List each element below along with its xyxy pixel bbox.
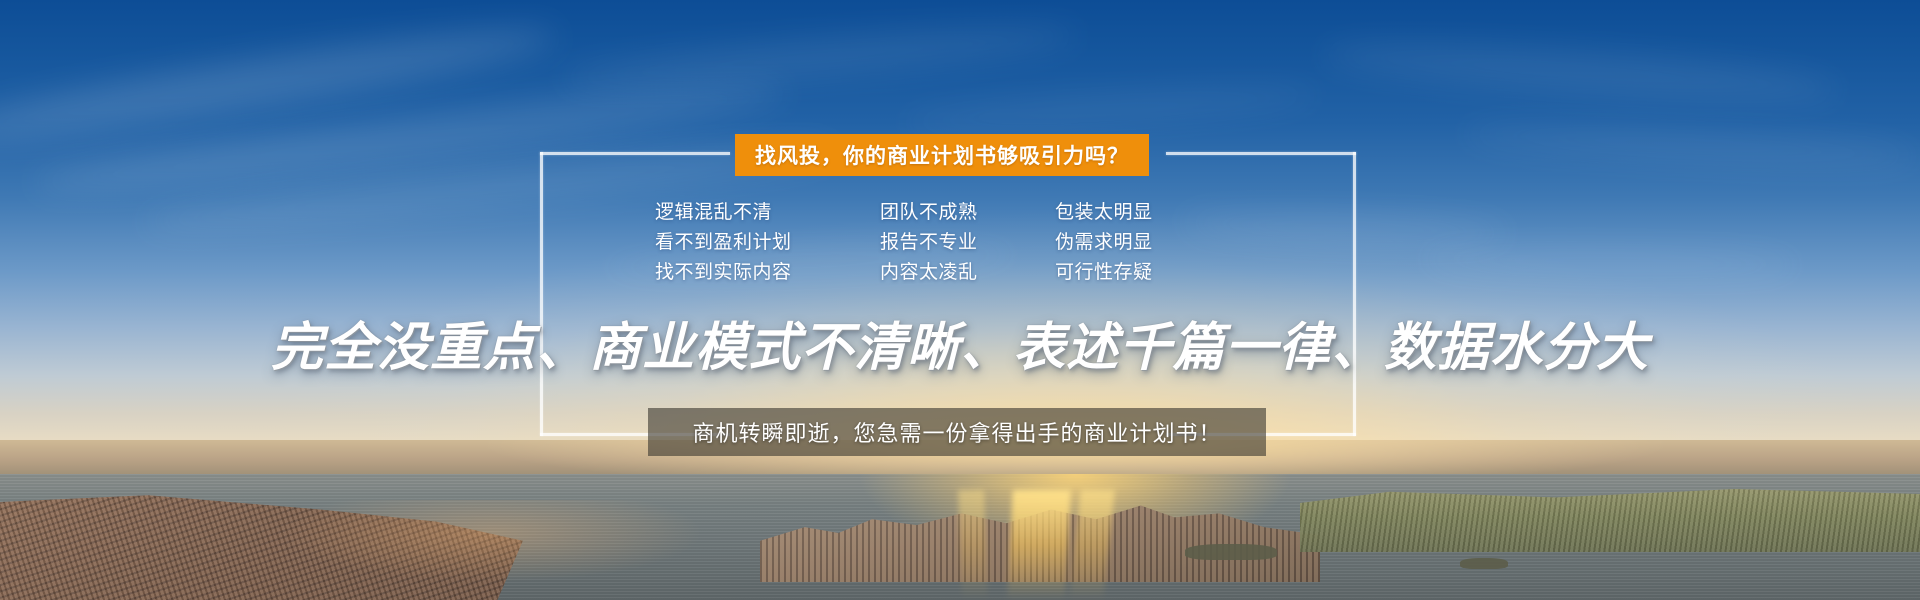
- pain-point-column: 包装太明显 伪需求明显 可行性存疑: [1055, 198, 1255, 288]
- pain-point-item: 伪需求明显: [1055, 228, 1255, 258]
- foreground-city-glow: [180, 500, 700, 600]
- headline: 完全没重点、商业模式不清晰、表述千篇一律、数据水分大: [0, 318, 1920, 378]
- pain-point-item: 团队不成熟: [880, 198, 1055, 228]
- sun-reflection: [1007, 490, 1071, 600]
- subheadline-text: 商机转瞬即逝，您急需一份拿得出手的商业计划书！: [692, 416, 1221, 448]
- cityscape-photo: [0, 440, 1920, 600]
- pain-point-item: 报告不专业: [880, 228, 1055, 258]
- pain-point-item: 可行性存疑: [1055, 258, 1255, 288]
- pain-point-item: 内容太凌乱: [880, 258, 1055, 288]
- island: [1460, 558, 1508, 569]
- pain-point-item: 看不到盈利计划: [655, 228, 880, 258]
- sun-reflection: [958, 490, 988, 600]
- ribbon-banner: 找风投，你的商业计划书够吸引力吗？: [735, 134, 1149, 176]
- hero-banner: 找风投，你的商业计划书够吸引力吗？ 逻辑混乱不清 看不到盈利计划 找不到实际内容…: [0, 0, 1920, 600]
- island: [1185, 544, 1277, 560]
- pain-point-column: 逻辑混乱不清 看不到盈利计划 找不到实际内容: [655, 198, 880, 288]
- pain-point-column: 团队不成熟 报告不专业 内容太凌乱: [880, 198, 1055, 288]
- pain-point-item: 逻辑混乱不清: [655, 198, 880, 228]
- pain-point-item: 包装太明显: [1055, 198, 1255, 228]
- pain-point-columns: 逻辑混乱不清 看不到盈利计划 找不到实际内容 团队不成熟 报告不专业 内容太凌乱…: [655, 198, 1275, 288]
- ribbon-label: 找风投，你的商业计划书够吸引力吗？: [755, 140, 1129, 170]
- subheadline-bar: 商机转瞬即逝，您急需一份拿得出手的商业计划书！: [648, 408, 1266, 456]
- pain-point-item: 找不到实际内容: [655, 258, 880, 288]
